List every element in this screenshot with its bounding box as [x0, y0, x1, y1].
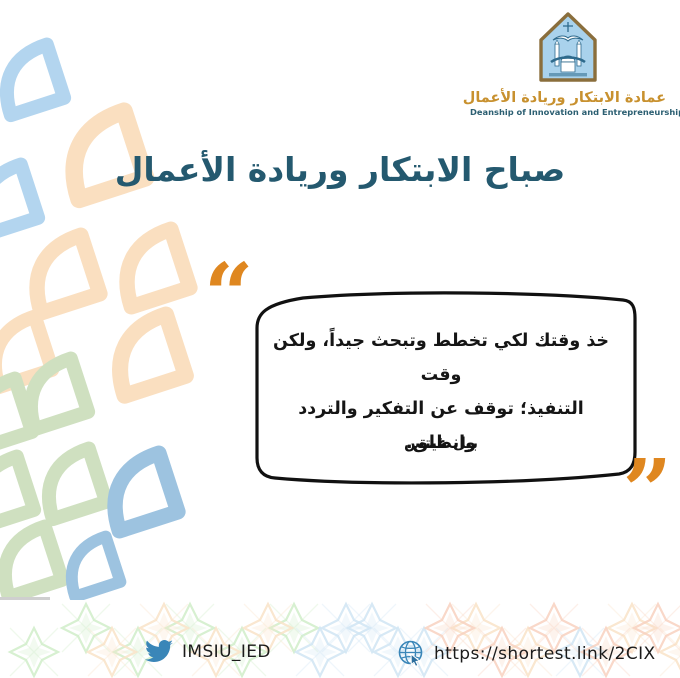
logo-arabic-name: عمادة الابتكار وريادة الأعمال	[470, 90, 666, 107]
twitter-bird-icon[interactable]	[145, 640, 173, 663]
quote-author: بيل غيتس	[262, 434, 620, 452]
twitter-handle-item[interactable]: IMSIU_IED	[145, 640, 271, 663]
closing-quotation-mark: ”	[623, 458, 670, 527]
page-title: صباح الابتكار وريادة الأعمال	[0, 150, 680, 189]
website-url-label[interactable]: https://shortest.link/2CIX	[434, 644, 656, 664]
website-link-item[interactable]: https://shortest.link/2CIX	[398, 640, 656, 667]
opening-quotation-mark: “	[204, 262, 251, 331]
quote-line-1: خذ وقتك لكي تخطط وتبحث جيداً، ولكن وقت	[262, 324, 620, 392]
logo-english-name: Deanship of Innovation and Entrepreneurs…	[470, 108, 666, 118]
imsiu-university-shield-emblem-icon	[537, 10, 599, 84]
organization-logo: عمادة الابتكار وريادة الأعمال Deanship o…	[470, 10, 666, 118]
poster-canvas: عمادة الابتكار وريادة الأعمال Deanship o…	[0, 0, 680, 678]
twitter-handle-label[interactable]: IMSIU_IED	[182, 642, 271, 662]
globe-cursor-icon[interactable]	[398, 640, 425, 667]
quote-card: “ خذ وقتك لكي تخطط وتبحث جيداً، ولكن وقت…	[200, 262, 670, 524]
